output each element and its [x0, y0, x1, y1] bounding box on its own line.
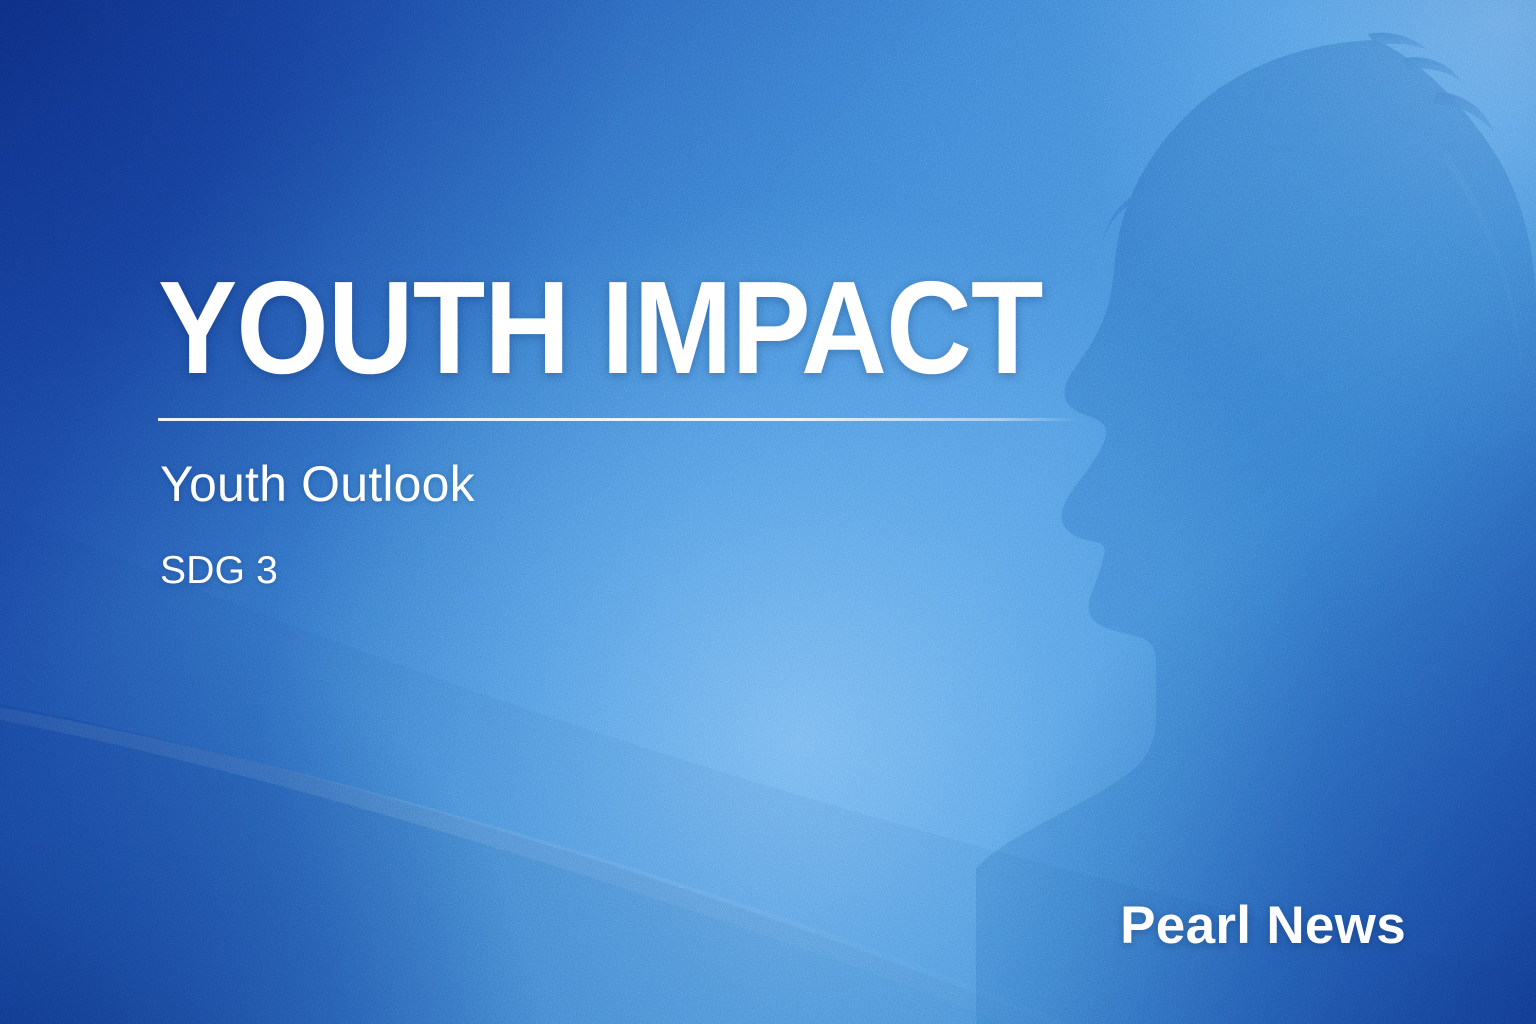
title-block: YOUTH IMPACT Youth Outlook SDG 3: [158, 262, 1118, 593]
tagline-sdg: SDG 3: [160, 549, 1118, 593]
title-divider-rule: [158, 418, 1078, 421]
title-slide: YOUTH IMPACT Youth Outlook SDG 3 Pearl N…: [0, 0, 1536, 1024]
page-title: YOUTH IMPACT: [158, 262, 1022, 394]
brand-wordmark: Pearl News: [1120, 895, 1406, 956]
subtitle: Youth Outlook: [160, 455, 1118, 513]
